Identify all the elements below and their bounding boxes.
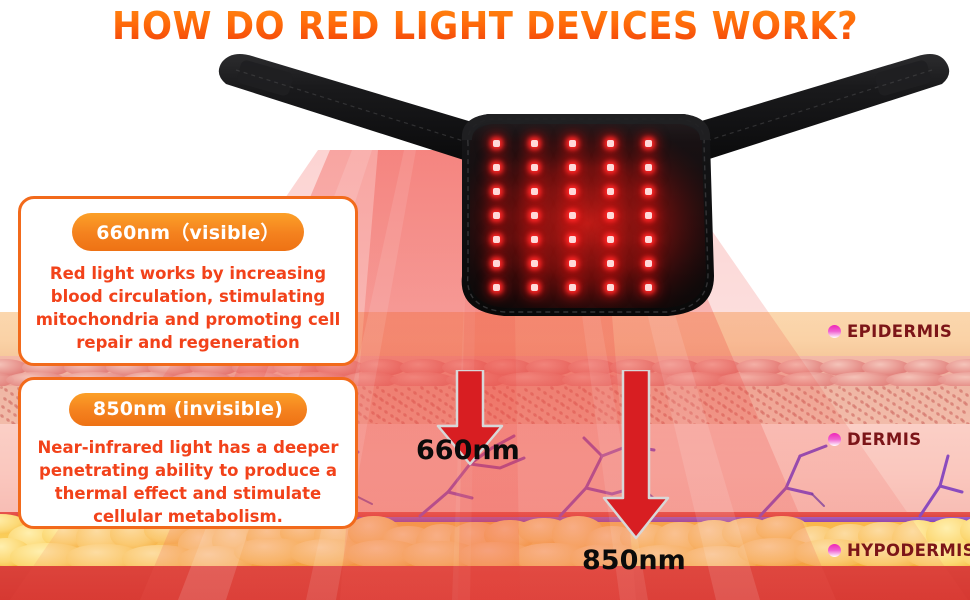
stipple-dot xyxy=(768,406,771,409)
stipple-dot xyxy=(549,395,552,398)
stipple-dot xyxy=(757,389,760,392)
stipple-dot xyxy=(694,386,697,389)
stipple-dot xyxy=(940,386,943,389)
stipple-dot xyxy=(534,404,537,407)
stipple-dot xyxy=(816,390,819,393)
stipple-dot xyxy=(679,395,682,398)
stipple-dot xyxy=(839,405,842,408)
stipple-dot xyxy=(579,405,582,408)
stipple-dot xyxy=(914,388,917,391)
stipple-dot xyxy=(963,401,966,404)
stipple-dot xyxy=(788,400,791,403)
stipple-dot xyxy=(752,386,755,389)
stipple-dot xyxy=(901,389,904,392)
stipple-dot xyxy=(833,401,836,404)
stipple-dot xyxy=(373,393,376,396)
page-title: HOW DO RED LIGHT DEVICES WORK? xyxy=(34,4,936,48)
stipple-dot xyxy=(756,398,759,401)
stipple-dot xyxy=(578,386,581,389)
stipple-dot xyxy=(898,406,901,409)
stipple-dot xyxy=(515,401,518,404)
stipple-dot xyxy=(712,388,715,391)
stipple-dot xyxy=(530,392,533,395)
stipple-dot xyxy=(911,405,914,408)
stipple-dot xyxy=(564,386,567,389)
stipple-dot xyxy=(725,387,728,390)
stipple-dot xyxy=(547,403,550,406)
info-card-660nm-body: Red light works by increasing blood circ… xyxy=(21,262,355,354)
stipple-dot xyxy=(366,398,369,401)
stipple-dot xyxy=(956,406,959,409)
stipple-dot xyxy=(841,397,844,400)
stipple-dot xyxy=(0,386,3,389)
stipple-dot xyxy=(896,386,899,389)
stipple-dot xyxy=(398,400,401,403)
stipple-dot xyxy=(905,401,908,404)
stipple-dot xyxy=(4,388,7,391)
stipple-dot xyxy=(411,399,414,402)
info-card-850nm: 850nm (invisible) Near-infrared light ha… xyxy=(18,377,358,529)
stipple-dot xyxy=(847,401,850,404)
stipple-dot xyxy=(556,390,559,393)
stipple-dot xyxy=(423,407,426,410)
stipple-dot xyxy=(553,407,556,410)
stipple-dot xyxy=(868,386,871,389)
stipple-dot xyxy=(771,389,774,392)
stipple-dot xyxy=(750,394,753,397)
stipple-dot xyxy=(562,394,565,397)
stipple-dot xyxy=(536,396,539,399)
stipple-dot xyxy=(775,401,778,404)
skin-label-epidermis: EPIDERMIS xyxy=(828,322,952,341)
stipple-dot xyxy=(867,395,870,398)
stipple-dot xyxy=(379,397,382,400)
stipple-dot xyxy=(698,398,701,401)
stipple-dot xyxy=(378,406,381,409)
stipple-dot xyxy=(937,403,940,406)
badge-850nm: 850nm (invisible) xyxy=(69,393,307,426)
stipple-dot xyxy=(860,400,863,403)
stipple-dot xyxy=(809,395,812,398)
stipple-dot xyxy=(718,392,721,395)
badge-660nm: 660nm（visible） xyxy=(72,213,304,251)
stipple-dot xyxy=(566,406,569,409)
stipple-dot xyxy=(924,404,927,407)
stipple-dot xyxy=(892,402,895,405)
stipple-dot xyxy=(755,407,758,410)
stipple-dot xyxy=(410,408,413,411)
stipple-dot xyxy=(581,397,584,400)
stipple-dot xyxy=(724,396,727,399)
stipple-dot xyxy=(1,405,4,408)
stipple-dot xyxy=(801,399,804,402)
stipple-dot xyxy=(741,407,744,410)
stipple-dot xyxy=(763,393,766,396)
stipple-dot xyxy=(927,387,930,390)
stipple-dot xyxy=(822,394,825,397)
stipple-dot xyxy=(800,408,803,411)
stipple-dot xyxy=(10,392,13,395)
skin-label-hypodermis: HYPODERMIS xyxy=(828,541,970,560)
stipple-dot xyxy=(540,408,543,411)
stipple-dot xyxy=(865,403,868,406)
stipple-dot xyxy=(381,389,384,392)
hypodermis-layer xyxy=(0,522,970,570)
skin-label-hypodermis-text: HYPODERMIS xyxy=(847,541,970,560)
stipple-dot xyxy=(794,404,797,407)
stipple-dot xyxy=(743,399,746,402)
stipple-dot xyxy=(855,387,858,390)
stipple-dot xyxy=(365,407,368,410)
stipple-dot xyxy=(920,392,923,395)
stipple-dot xyxy=(813,407,816,410)
bullet-dot-icon xyxy=(828,325,841,338)
stipple-dot xyxy=(708,386,711,389)
stipple-dot xyxy=(511,389,514,392)
stipple-dot xyxy=(946,390,949,393)
stipple-dot xyxy=(711,397,714,400)
stipple-dot xyxy=(882,386,885,389)
stipple-dot xyxy=(762,402,765,405)
stipple-dot xyxy=(692,394,695,397)
stipple-dot xyxy=(543,391,546,394)
stipple-dot xyxy=(749,403,752,406)
stipple-dot xyxy=(8,400,11,403)
stipple-dot xyxy=(797,387,800,390)
stipple-dot xyxy=(784,388,787,391)
stipple-dot xyxy=(722,404,725,407)
bullet-dot-icon xyxy=(828,433,841,446)
stipple-dot xyxy=(705,393,708,396)
stipple-dot xyxy=(950,402,953,405)
stipple-dot xyxy=(879,403,882,406)
stipple-dot xyxy=(362,386,365,389)
skin-label-epidermis-text: EPIDERMIS xyxy=(847,322,952,341)
stipple-dot xyxy=(826,406,829,409)
stipple-dot xyxy=(810,386,813,389)
stipple-dot xyxy=(782,396,785,399)
stipple-dot xyxy=(931,399,934,402)
stipple-dot xyxy=(537,387,540,390)
stipple-dot xyxy=(861,391,864,394)
stipple-dot xyxy=(933,391,936,394)
stipple-dot xyxy=(394,388,397,391)
stipple-dot xyxy=(573,401,576,404)
stipple-dot xyxy=(3,397,6,400)
stipple-dot xyxy=(766,386,769,389)
stipple-dot xyxy=(391,405,394,408)
stipple-dot xyxy=(912,396,915,399)
stipple-dot xyxy=(858,408,861,411)
stipple-dot xyxy=(680,386,683,389)
stipple-dot xyxy=(376,386,379,389)
stipple-dot xyxy=(360,394,363,397)
skin-label-dermis: DERMIS xyxy=(828,430,922,449)
stipple-dot xyxy=(541,399,544,402)
stipple-dot xyxy=(824,386,827,389)
stipple-dot xyxy=(385,401,388,404)
stipple-dot xyxy=(677,403,680,406)
stipple-dot xyxy=(886,398,889,401)
stipple-dot xyxy=(419,395,422,398)
stipple-dot xyxy=(699,389,702,392)
stipple-dot xyxy=(406,396,409,399)
stipple-dot xyxy=(737,395,740,398)
stipple-dot xyxy=(569,389,572,392)
stipple-dot xyxy=(717,401,720,404)
stipple-dot xyxy=(790,392,793,395)
stipple-dot xyxy=(874,390,877,393)
stipple-dot xyxy=(359,403,362,406)
stipple-dot xyxy=(508,406,511,409)
stipple-dot xyxy=(425,399,428,402)
stipple-dot xyxy=(952,394,955,397)
stipple-dot xyxy=(400,392,403,395)
stipple-dot xyxy=(852,404,855,407)
stipple-dot xyxy=(893,393,896,396)
stipple-dot xyxy=(731,391,734,394)
stipple-dot xyxy=(521,405,524,408)
skin-label-dermis-text: DERMIS xyxy=(847,430,922,449)
stipple-dot xyxy=(930,408,933,411)
stipple-dot xyxy=(873,399,876,402)
stipple-dot xyxy=(575,393,578,396)
stipple-dot xyxy=(906,392,909,395)
stipple-dot xyxy=(404,404,407,407)
stipple-dot xyxy=(814,398,817,401)
stipple-dot xyxy=(555,399,558,402)
stipple-dot xyxy=(684,398,687,401)
stipple-dot xyxy=(769,397,772,400)
stipple-dot xyxy=(387,393,390,396)
stipple-dot xyxy=(592,404,595,407)
stipple-dot xyxy=(550,386,553,389)
stipple-dot xyxy=(528,400,531,403)
stipple-dot xyxy=(925,395,928,398)
stipple-dot xyxy=(728,408,731,411)
stipple-dot xyxy=(899,397,902,400)
stipple-dot xyxy=(392,396,395,399)
muscle-layer xyxy=(0,566,970,600)
stipple-dot xyxy=(560,402,563,405)
stipple-dot xyxy=(887,389,890,392)
stipple-dot xyxy=(744,390,747,393)
stipple-dot xyxy=(776,392,779,395)
stipple-dot xyxy=(838,386,841,389)
arrow-850nm xyxy=(598,370,674,540)
arrow-850nm-label: 850nm xyxy=(582,545,686,576)
stipple-dot xyxy=(842,388,845,391)
stipple-dot xyxy=(690,402,693,405)
stipple-dot xyxy=(413,391,416,394)
stipple-dot xyxy=(588,392,591,395)
stipple-dot xyxy=(828,398,831,401)
stipple-dot xyxy=(854,396,857,399)
stipple-dot xyxy=(703,401,706,404)
stipple-dot xyxy=(938,394,941,397)
stipple-dot xyxy=(848,392,851,395)
stipple-dot xyxy=(582,388,585,391)
stipple-dot xyxy=(738,386,741,389)
stipple-dot xyxy=(587,401,590,404)
stipple-dot xyxy=(683,407,686,410)
stipple-dot xyxy=(517,393,520,396)
stipple-dot xyxy=(568,398,571,401)
stipple-dot xyxy=(943,407,946,410)
stipple-dot xyxy=(594,396,597,399)
stipple-dot xyxy=(14,404,17,407)
info-card-660nm: 660nm（visible） Red light works by increa… xyxy=(18,196,358,366)
stipple-dot xyxy=(407,387,410,390)
stipple-dot xyxy=(686,390,689,393)
stipple-dot xyxy=(372,402,375,405)
stipple-dot xyxy=(957,397,960,400)
stipple-dot xyxy=(820,402,823,405)
stipple-dot xyxy=(807,403,810,406)
stipple-dot xyxy=(696,406,699,409)
stipple-dot xyxy=(420,386,423,389)
info-card-850nm-body: Near-infrared light has a deeper penetra… xyxy=(21,436,355,528)
stipple-dot xyxy=(524,388,527,391)
bullet-dot-icon xyxy=(828,544,841,557)
stipple-dot xyxy=(795,395,798,398)
stipple-dot xyxy=(944,398,947,401)
stipple-dot xyxy=(871,407,874,410)
stipple-dot xyxy=(965,393,968,396)
stipple-dot xyxy=(835,393,838,396)
stipple-dot xyxy=(730,400,733,403)
stipple-dot xyxy=(368,390,371,393)
stipple-dot xyxy=(880,394,883,397)
stipple-dot xyxy=(803,391,806,394)
stipple-dot xyxy=(522,396,525,399)
stipple-dot xyxy=(509,397,512,400)
arrow-660nm-label: 660nm xyxy=(416,435,520,466)
stipple-dot xyxy=(417,403,420,406)
stipple-dot xyxy=(959,389,962,392)
stipple-dot xyxy=(829,389,832,392)
stipple-dot xyxy=(736,404,739,407)
stipple-dot xyxy=(884,406,887,409)
stipple-dot xyxy=(426,390,429,393)
infographic-canvas: HOW DO RED LIGHT DEVICES WORK? xyxy=(0,0,970,600)
stipple-dot xyxy=(709,405,712,408)
stipple-dot xyxy=(954,386,957,389)
stipple-dot xyxy=(781,405,784,408)
stipple-dot xyxy=(918,400,921,403)
